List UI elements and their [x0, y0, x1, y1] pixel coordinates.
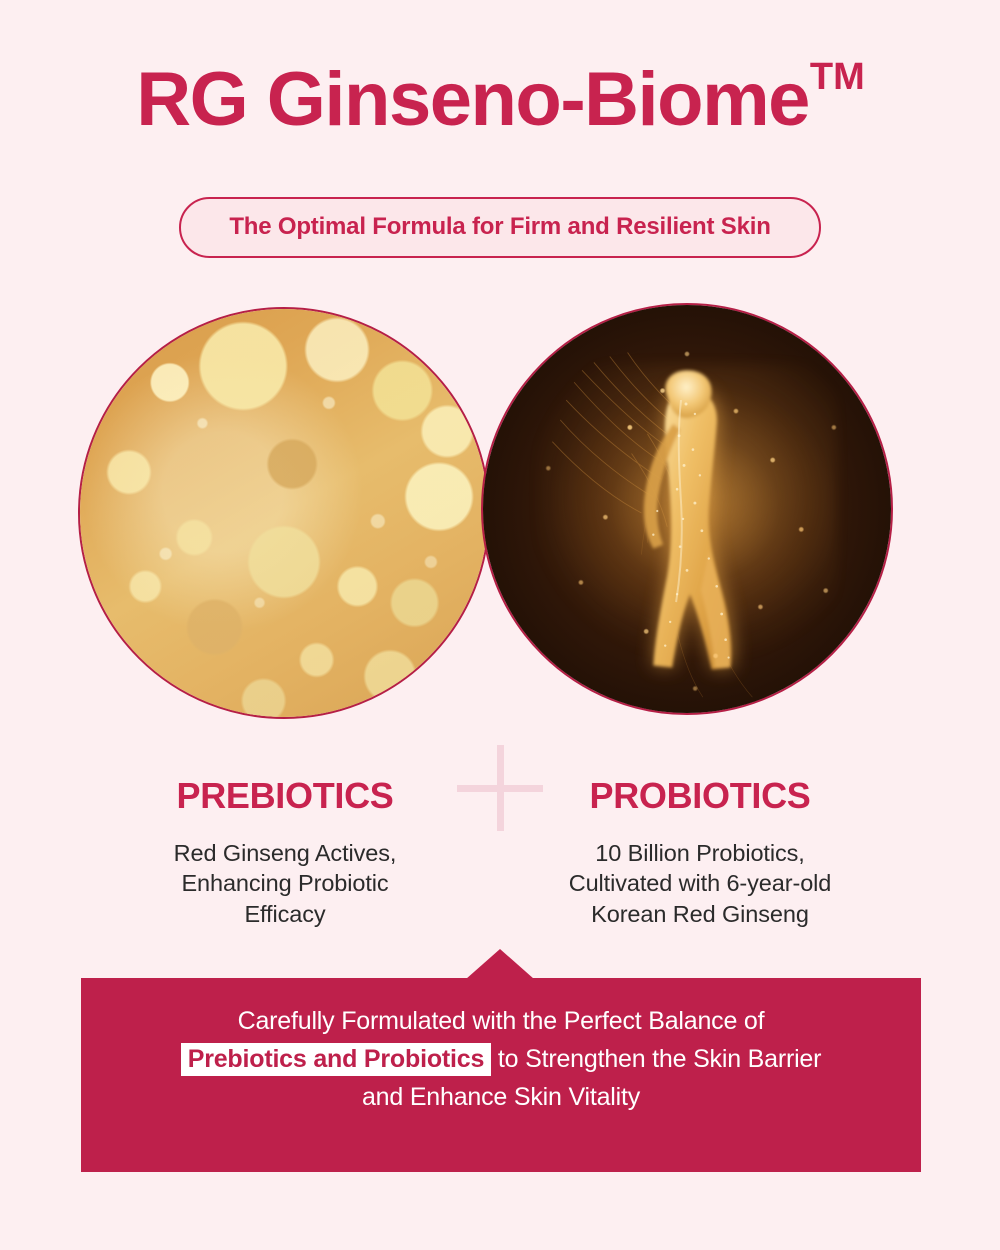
prebiotics-circle-image [78, 307, 490, 719]
banner-highlight: Prebiotics and Probiotics [181, 1043, 491, 1076]
probiotics-circle-image [481, 303, 893, 715]
brand-title-text: RG Ginseno-Biome [136, 57, 809, 142]
banner-line-3: and Enhance Skin Vitality [81, 1078, 921, 1116]
trademark-superscript: TM [810, 56, 865, 98]
subtitle-container: The Optimal Formula for Firm and Resilie… [0, 197, 1000, 258]
probiotics-description: 10 Billion Probiotics,Cultivated with 6-… [490, 838, 910, 929]
banner-line-1: Carefully Formulated with the Perfect Ba… [81, 1002, 921, 1040]
oil-highlight-specks [80, 309, 488, 717]
prebiotics-column: PREBIOTICS Red Ginseng Actives,Enhancing… [75, 777, 495, 929]
subtitle-pill: The Optimal Formula for Firm and Resilie… [179, 197, 820, 258]
banner-line-2: Prebiotics and Probiotics to Strengthen … [81, 1040, 921, 1078]
prebiotics-heading: PREBIOTICS [75, 777, 495, 816]
summary-banner: Carefully Formulated with the Perfect Ba… [81, 978, 921, 1172]
page-title: RG Ginseno-BiomeTM [0, 62, 1000, 138]
ingredient-images [0, 303, 1000, 723]
banner-text: Carefully Formulated with the Perfect Ba… [81, 1002, 921, 1116]
probiotics-column: PROBIOTICS 10 Billion Probiotics,Cultiva… [490, 777, 910, 929]
brand-title: RG Ginseno-BiomeTM [136, 62, 864, 138]
prebiotics-description: Red Ginseng Actives,Enhancing ProbioticE… [75, 838, 495, 929]
floating-gold-particles [483, 305, 891, 713]
banner-line-2-rest: to Strengthen the Skin Barrier [491, 1045, 821, 1073]
product-ingredient-infographic: RG Ginseno-BiomeTM The Optimal Formula f… [0, 0, 1000, 1250]
banner-arrow-pointer [466, 949, 534, 979]
probiotics-heading: PROBIOTICS [490, 777, 910, 816]
